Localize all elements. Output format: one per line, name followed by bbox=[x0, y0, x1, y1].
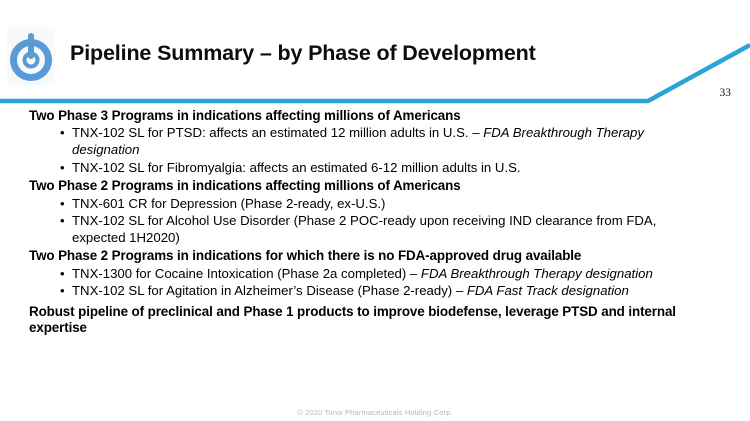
bullet-icon: • bbox=[60, 160, 65, 177]
bullet-emphasis: FDA Fast Track designation bbox=[467, 283, 629, 298]
list-item: •TNX-601 CR for Depression (Phase 2-read… bbox=[0, 196, 750, 213]
copyright-footer: © 2020 Tonix Pharmaceuticals Holding Cor… bbox=[0, 408, 750, 417]
bullet-icon: • bbox=[60, 196, 65, 213]
slide-body: Two Phase 3 Programs in indications affe… bbox=[0, 108, 750, 337]
bullet-text: TNX-102 SL for Agitation in Alzheimer’s … bbox=[72, 283, 467, 298]
list-item: •TNX-102 SL for Agitation in Alzheimer’s… bbox=[0, 283, 750, 300]
bullet-text: TNX-102 SL for Alcohol Use Disorder (Pha… bbox=[72, 213, 656, 245]
bullet-icon: • bbox=[60, 213, 65, 230]
section-heading: Two Phase 3 Programs in indications affe… bbox=[0, 108, 750, 124]
list-item: •TNX-1300 for Cocaine Intoxication (Phas… bbox=[0, 266, 750, 283]
bullet-list: •TNX-601 CR for Depression (Phase 2-read… bbox=[0, 196, 750, 247]
section-heading: Two Phase 2 Programs in indications for … bbox=[0, 248, 750, 264]
bullet-icon: • bbox=[60, 266, 65, 283]
bullet-list: •TNX-102 SL for PTSD: affects an estimat… bbox=[0, 125, 750, 176]
list-item: •TNX-102 SL for Fibromyalgia: affects an… bbox=[0, 160, 750, 177]
closing-heading: Robust pipeline of preclinical and Phase… bbox=[0, 304, 750, 337]
bullet-list: •TNX-1300 for Cocaine Intoxication (Phas… bbox=[0, 266, 750, 300]
bullet-text: TNX-102 SL for PTSD: affects an estimate… bbox=[72, 125, 483, 140]
page-title: Pipeline Summary – by Phase of Developme… bbox=[70, 41, 536, 66]
bullet-emphasis: FDA Breakthrough Therapy designation bbox=[421, 266, 653, 281]
section-block: Two Phase 2 Programs in indications affe… bbox=[0, 178, 750, 246]
bullet-text: TNX-102 SL for Fibromyalgia: affects an … bbox=[72, 160, 521, 175]
bullet-icon: • bbox=[60, 283, 65, 300]
slide: Pipeline Summary – by Phase of Developme… bbox=[0, 0, 750, 421]
section-heading: Two Phase 2 Programs in indications affe… bbox=[0, 178, 750, 194]
list-item: •TNX-102 SL for PTSD: affects an estimat… bbox=[0, 125, 750, 158]
slide-header: Pipeline Summary – by Phase of Developme… bbox=[0, 0, 750, 100]
section-block: Two Phase 3 Programs in indications affe… bbox=[0, 108, 750, 176]
tonix-power-logo-icon bbox=[7, 27, 55, 85]
list-item: •TNX-102 SL for Alcohol Use Disorder (Ph… bbox=[0, 213, 750, 246]
bullet-icon: • bbox=[60, 125, 65, 142]
bullet-text: TNX-601 CR for Depression (Phase 2-ready… bbox=[72, 196, 385, 211]
page-number: 33 bbox=[720, 87, 732, 99]
bullet-text: TNX-1300 for Cocaine Intoxication (Phase… bbox=[72, 266, 421, 281]
section-block: Two Phase 2 Programs in indications for … bbox=[0, 248, 750, 300]
